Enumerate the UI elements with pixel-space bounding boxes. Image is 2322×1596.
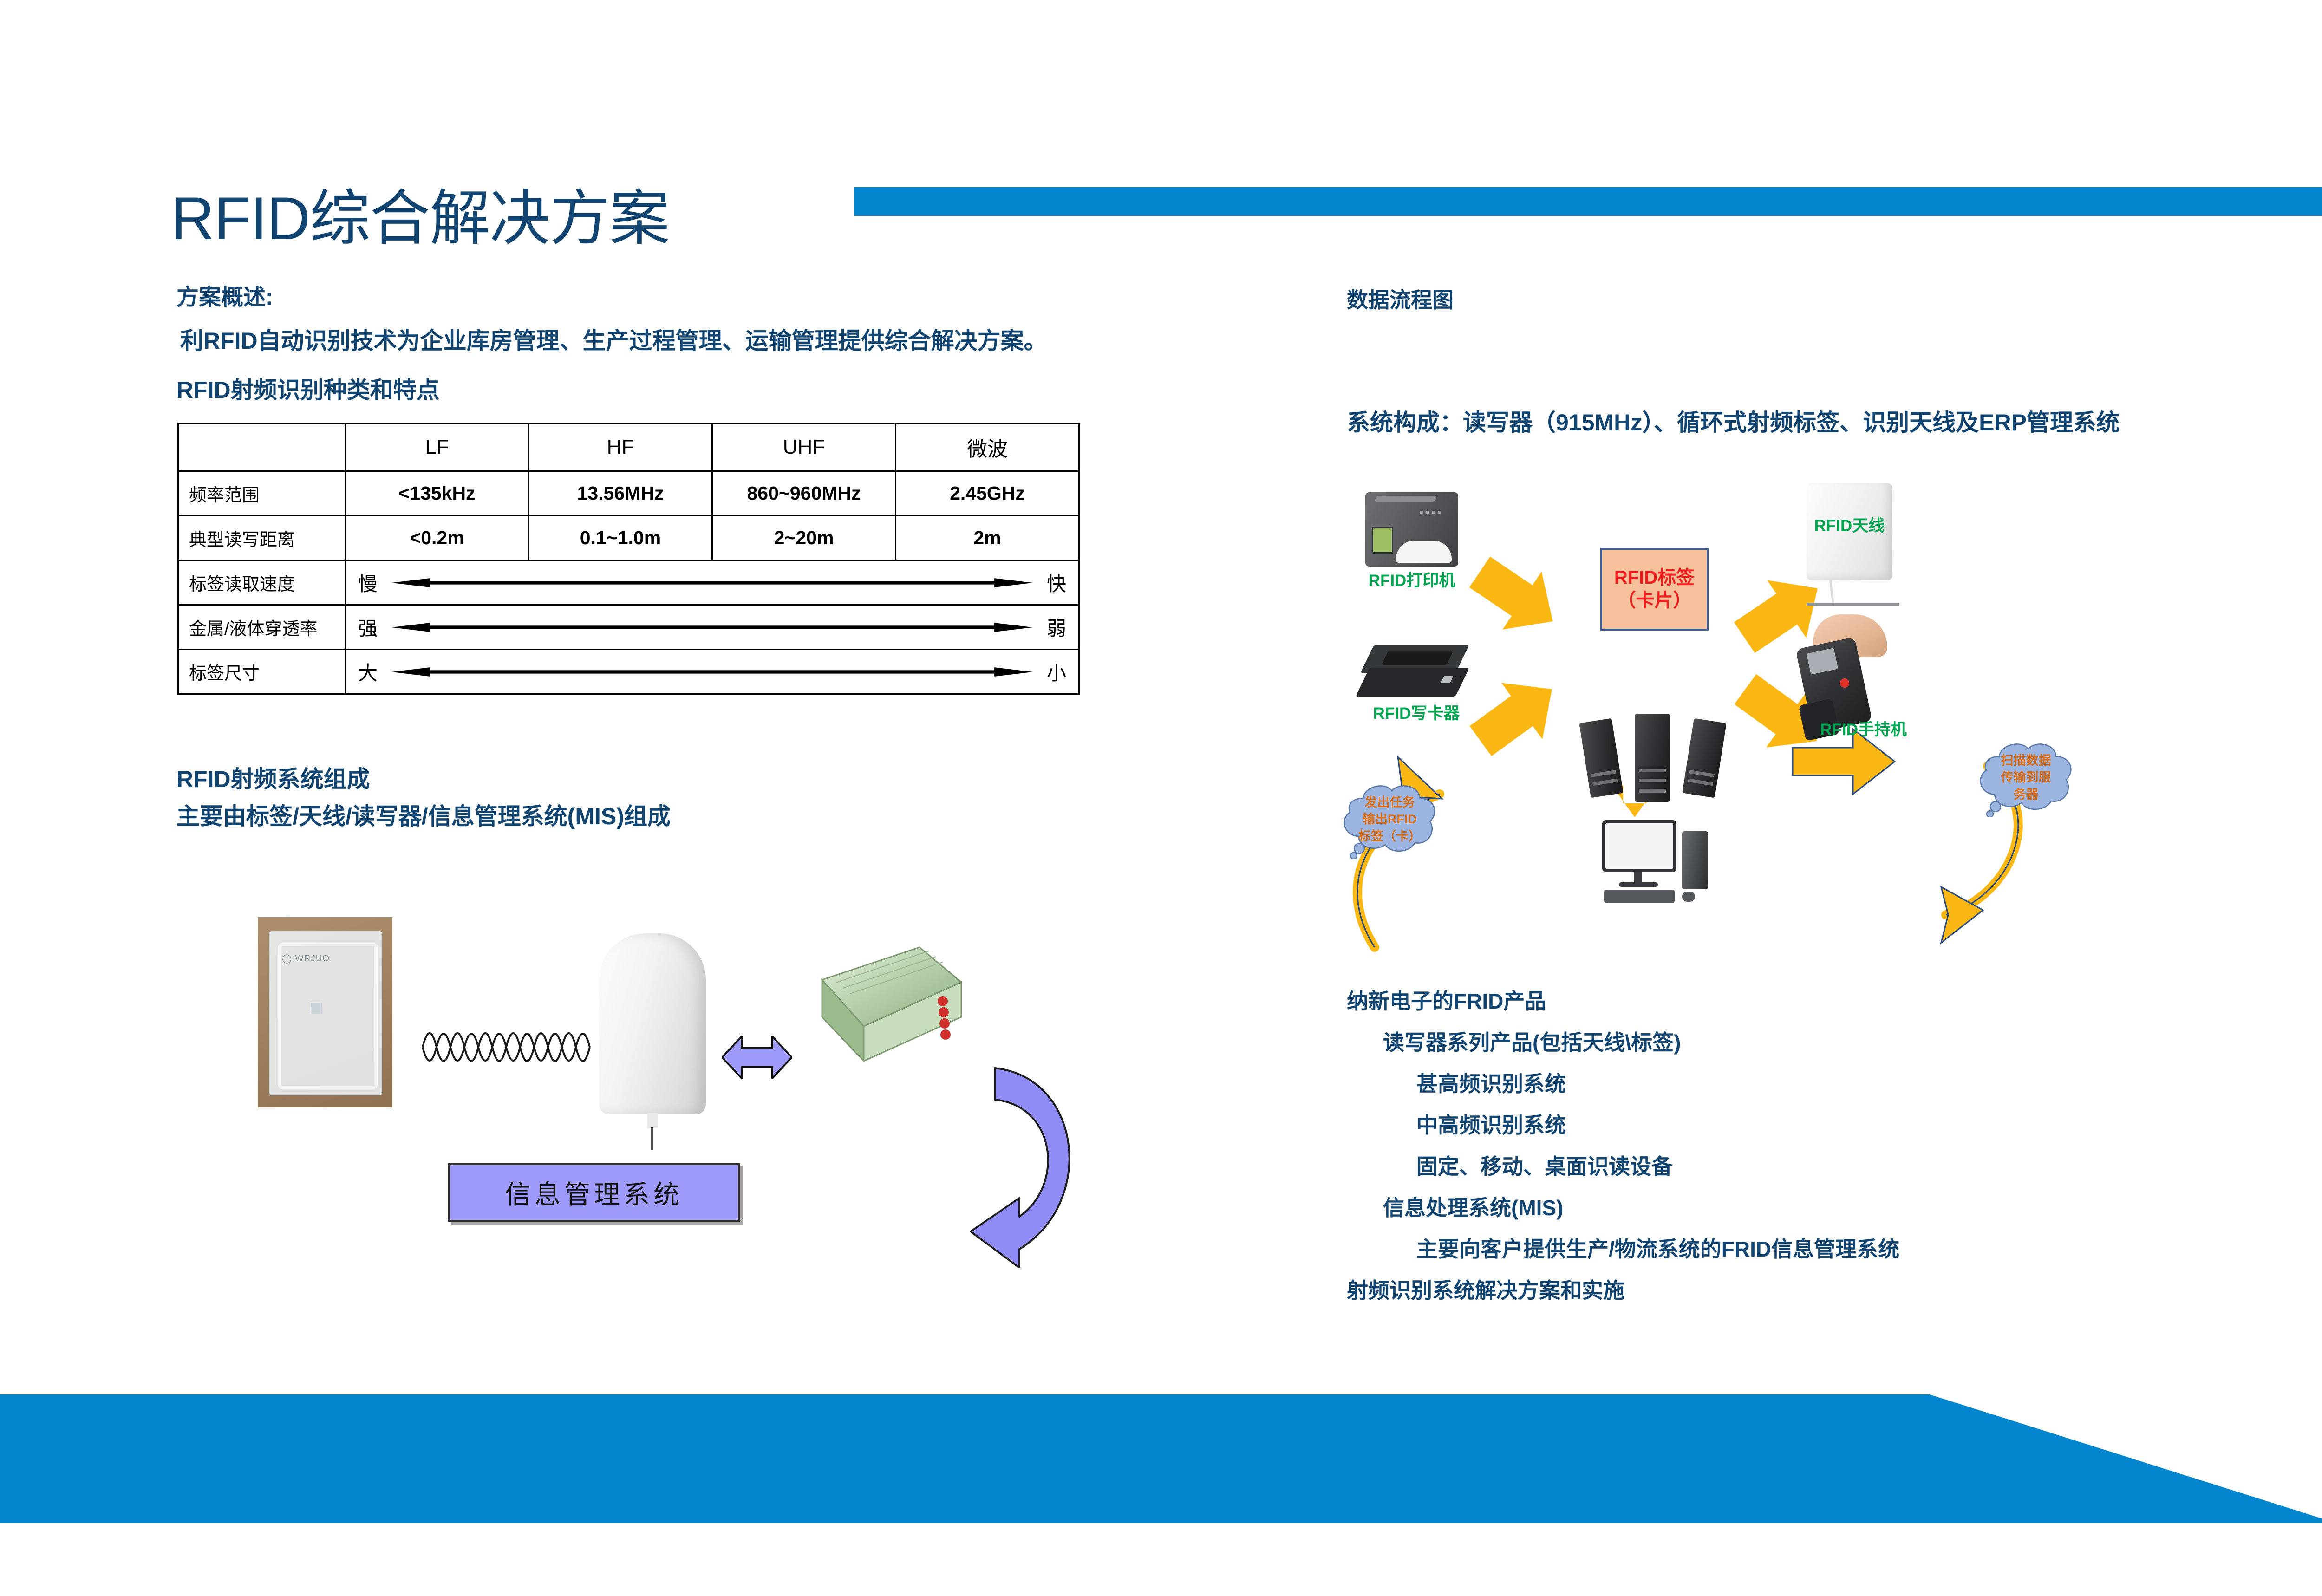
rfid-tag-box: RFID标签 （卡片） [1600, 548, 1709, 631]
mis-box: 信息管理系统 [448, 1163, 740, 1222]
scale-right-label: 小 [1047, 658, 1066, 686]
rfid-antenna-photo [599, 933, 706, 1128]
printer-indicator-lights [1420, 511, 1441, 514]
table-row: 频率范围 <135kHz 13.56MHz 860~960MHz 2.45GHz [178, 471, 1079, 516]
mouse [1682, 892, 1695, 902]
handheld-scan-button [1840, 678, 1849, 688]
flow-heading: 数据流程图 [1347, 283, 1454, 314]
table-corner-cell [178, 423, 346, 471]
list-item: 纳新电子的FRID产品 [1347, 984, 1899, 1015]
rfid-handheld-label: RFID手持机 [1820, 717, 1907, 740]
tag-brand-mark: ◯ WRJUO [282, 953, 330, 964]
cloud-left-line2: 输出RFID [1363, 811, 1417, 827]
tag-chip [311, 1003, 322, 1014]
overview-label: 方案概述: [176, 279, 273, 311]
slide-canvas: RFID综合解决方案 方案概述: 利RFID自动识别技术为企业库房管理、生产过程… [0, 0, 2322, 1596]
curved-arrow-to-mis-icon [943, 1063, 1096, 1268]
cloud-callout-left: 发出任务 输出RFID 标签（卡） [1335, 778, 1444, 859]
cloud-left-line1: 发出任务 [1365, 794, 1415, 811]
rfid-tag-photo: ◯ WRJUO [258, 917, 392, 1107]
row-label: 频率范围 [178, 471, 346, 516]
rfid-tag-label-line1: RFID标签 [1614, 567, 1695, 589]
cell: 13.56MHz [529, 471, 712, 516]
table-col-lf: LF [346, 423, 529, 471]
monitor-base [1619, 882, 1658, 887]
row-label: 标签读取速度 [178, 560, 346, 605]
writer-card-slot [1382, 651, 1454, 665]
printer-top-slot [1374, 496, 1437, 502]
rfid-hardware-illustration: ◯ WRJUO [232, 859, 1045, 1193]
rfid-printer-label: RFID打印机 [1369, 567, 1455, 591]
table-col-microwave: 微波 [896, 423, 1079, 471]
system-body: 主要由标签/天线/读写器/信息管理系统(MIS)组成 [176, 798, 671, 831]
cell: <0.2m [346, 516, 529, 560]
printer-display [1372, 527, 1393, 554]
scale-right-label: 弱 [1047, 613, 1066, 641]
tag-card-body: ◯ WRJUO [269, 931, 382, 1095]
monitor-screen [1605, 823, 1673, 869]
desktop-computer [1598, 817, 1714, 908]
cloud-right-line3: 务器 [2014, 786, 2039, 803]
antenna-wire [651, 1127, 653, 1150]
double-arrow-icon [391, 577, 1033, 589]
scale-left-label: 强 [358, 613, 378, 641]
rfid-antenna-device: RFID天线 [1807, 483, 1892, 599]
scale-cell: 大 小 [346, 650, 1079, 694]
rfid-handheld-device: RFID手持机 [1797, 611, 1904, 745]
row-label: 金属/液体穿透率 [178, 605, 346, 650]
server-center [1635, 714, 1670, 802]
rfid-printer: RFID打印机 [1365, 492, 1458, 578]
cloud-left-line3: 标签（卡） [1358, 828, 1421, 845]
cloud-right-line2: 传输到服 [2001, 769, 2051, 786]
list-item: 主要向客户提供生产/物流系统的FRID信息管理系统 [1416, 1232, 1899, 1263]
list-item: 固定、移动、桌面识读设备 [1416, 1150, 1899, 1180]
table-row: 标签尺寸 大 小 [178, 650, 1079, 694]
footer-accent-shape [0, 1394, 2322, 1524]
scale-left-label: 大 [358, 658, 378, 686]
radio-wave-icon [420, 1019, 592, 1075]
scale-right-label: 快 [1047, 568, 1066, 597]
table-row: 标签读取速度 慢 快 [178, 560, 1079, 605]
page-title: RFID综合解决方案 [171, 188, 669, 248]
cell: 2.45GHz [896, 471, 1079, 516]
bidirectional-arrow-icon [722, 1031, 792, 1084]
cell: 860~960MHz [712, 471, 896, 516]
table-row: 金属/液体穿透率 强 弱 [178, 605, 1079, 650]
rfid-card-writer: RFID写卡器 [1361, 632, 1472, 720]
product-list: 纳新电子的FRID产品 读写器系列产品(包括天线\标签) 甚高频识别系统 中高频… [1347, 984, 1899, 1315]
monitor [1602, 820, 1676, 872]
server-right [1682, 718, 1726, 798]
overview-body: 利RFID自动识别技术为企业库房管理、生产过程管理、运输管理提供综合解决方案。 [180, 322, 1047, 356]
tag-antenna-coil [278, 943, 378, 1089]
server-left [1579, 718, 1623, 798]
rfid-comparison-table: LF HF UHF 微波 频率范围 <135kHz 13.56MHz 860~9… [177, 423, 1080, 695]
server-rack-group [1584, 713, 1723, 806]
list-item: 甚高频识别系统 [1416, 1067, 1899, 1098]
data-flow-diagram: RFID打印机 RFID写卡器 RFID标签 （卡片） RFID天线 RFID手… [1324, 478, 2113, 971]
cloud-right-line1: 扫描数据 [2001, 752, 2051, 769]
scale-left-label: 慢 [358, 568, 378, 597]
antenna-cord [1829, 580, 1835, 606]
cell: 2m [896, 516, 1079, 560]
table-col-uhf: UHF [712, 423, 896, 471]
cloud-left-text: 发出任务 输出RFID 标签（卡） [1335, 778, 1444, 859]
list-item: 信息处理系统(MIS) [1383, 1191, 1899, 1222]
scale-cell: 慢 快 [346, 560, 1079, 605]
keyboard [1604, 890, 1675, 903]
cloud-callout-right: 扫描数据 传输到服 务器 [1971, 736, 2081, 817]
printer-label-roll [1396, 541, 1452, 563]
cell: 0.1~1.0m [529, 516, 712, 560]
table-header-row: LF HF UHF 微波 [178, 423, 1079, 471]
mis-box-label: 信息管理系统 [505, 1174, 683, 1212]
writer-front [1356, 668, 1469, 697]
composition-heading: 系统构成：读写器（915MHz）、循环式射频标签、识别天线及ERP管理系统 [1347, 404, 2120, 437]
antenna-body [599, 933, 706, 1114]
row-label: 典型读写距离 [178, 516, 346, 560]
header-accent-bar [854, 187, 2322, 216]
antenna-connector [647, 1113, 658, 1128]
cell: <135kHz [346, 471, 529, 516]
list-item: 射频识别系统解决方案和实施 [1347, 1274, 1899, 1304]
row-label: 标签尺寸 [178, 650, 346, 694]
table-row: 典型读写距离 <0.2m 0.1~1.0m 2~20m 2m [178, 516, 1079, 560]
table-col-hf: HF [529, 423, 712, 471]
monitor-stand [1634, 872, 1642, 883]
rfid-antenna-label: RFID天线 [1814, 513, 1885, 536]
double-arrow-icon [391, 621, 1033, 633]
list-item: 读写器系列产品(包括天线\标签) [1383, 1026, 1899, 1056]
scale-cell: 强 弱 [346, 605, 1079, 650]
list-item: 中高频识别系统 [1416, 1108, 1899, 1139]
double-arrow-icon [391, 666, 1033, 678]
antenna-base-rail [1807, 603, 1899, 606]
pc-tower [1682, 831, 1708, 889]
cloud-right-text: 扫描数据 传输到服 务器 [1971, 736, 2081, 817]
rfid-tag-label-line2: （卡片） [1618, 589, 1692, 612]
kinds-heading: RFID射频识别种类和特点 [176, 371, 440, 405]
system-heading: RFID射频系统组成 [176, 761, 370, 794]
cell: 2~20m [712, 516, 896, 560]
rfid-writer-label: RFID写卡器 [1373, 700, 1460, 724]
